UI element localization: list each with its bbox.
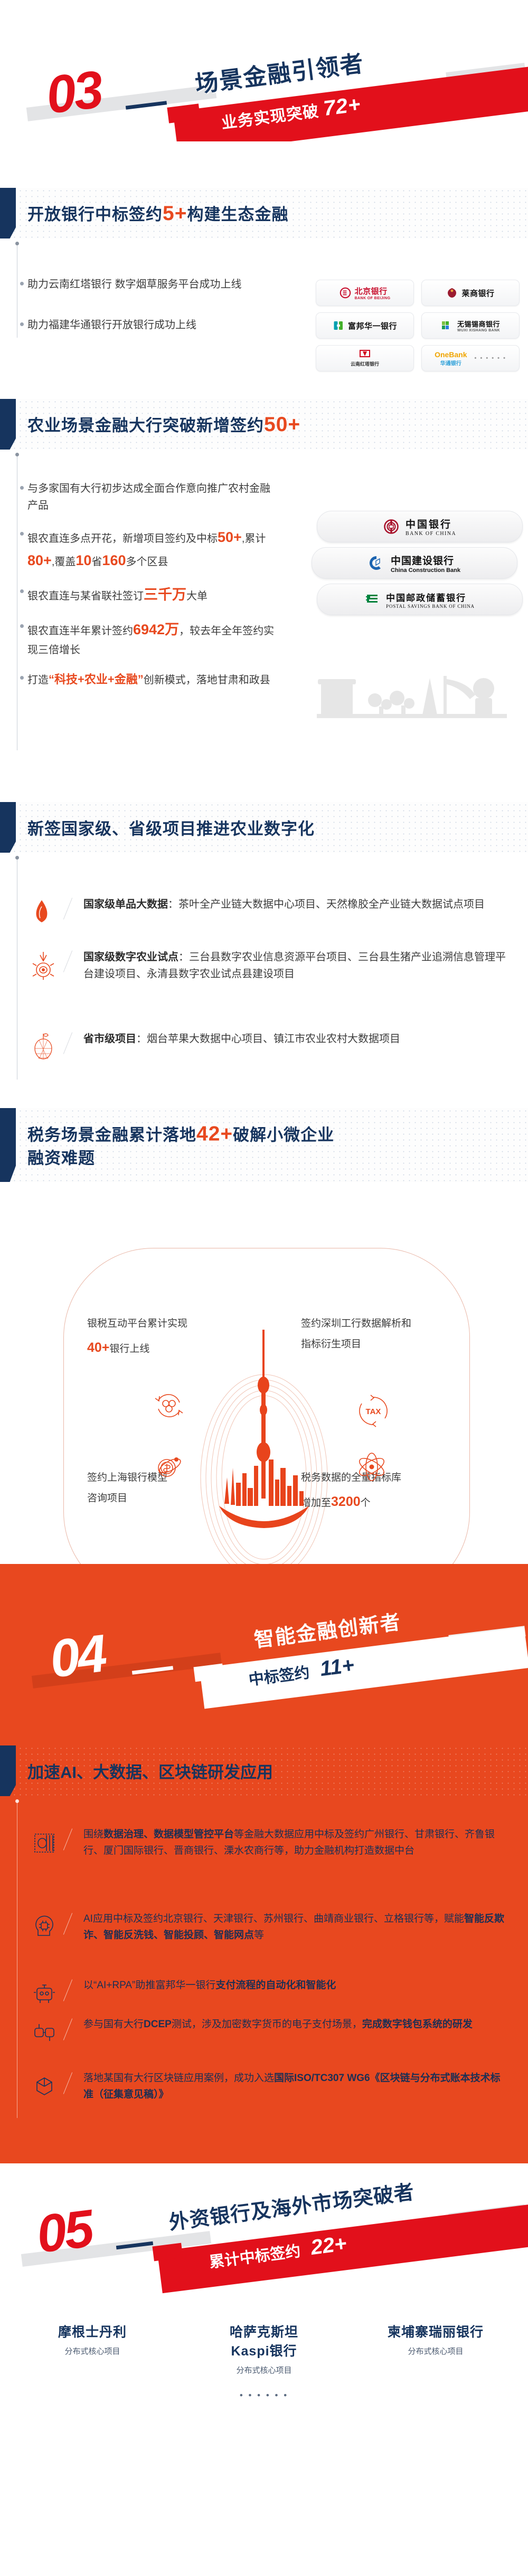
wuxi-logo-icon bbox=[441, 320, 454, 331]
section-04: 04 智能金融创新者 中标签约 11+ 加速AI、大数据、区块链研发应用 围绕数… bbox=[0, 1564, 528, 2163]
bottom-banks: 摩根士丹利 分布式核心项目 哈萨克斯坦 Kaspi银行 分布式核心项目 柬埔寨瑞… bbox=[0, 2311, 528, 2576]
item-label: 国家级单品大数据 bbox=[83, 899, 168, 910]
section-agri-title: 农业场景金融大行突破新增签约50+ bbox=[0, 399, 528, 450]
highlight-number: 80+ bbox=[27, 552, 52, 568]
tax-quadrant-top-right-text: 签约深圳工行数据解析和 指标衍生项目 bbox=[301, 1314, 475, 1355]
block-icon bbox=[31, 2072, 58, 2102]
hero04-number: 04 bbox=[46, 1623, 108, 1690]
agri-logo-list: 中国银行 BANK OF CHINA 中国建设银行 China Construc… bbox=[312, 511, 523, 615]
bullet-text: 银农直连多点开花，新增项目签约及中标50+,累计80+,覆盖10省160多个区县 bbox=[27, 526, 276, 572]
agri-bullet: 银农直连多点开花，新增项目签约及中标50+,累计80+,覆盖10省160多个区县 bbox=[27, 526, 276, 572]
text-part: 落地某国有大行区块链应用案例，成功入选 bbox=[83, 2073, 274, 2084]
text-part: 创新模式，落地甘肃和政县 bbox=[144, 674, 270, 686]
bullet-text: 与多家国有大行初步达成全面合作意向推广农村金融产品 bbox=[27, 480, 276, 514]
tax-label: TAX bbox=[366, 1407, 381, 1416]
text-part: 参与国有大行 bbox=[83, 2019, 144, 2030]
bullet-dot bbox=[20, 532, 24, 536]
section-tax-title: 税务场景金融累计落地42+破解小微企业 融资难题 bbox=[0, 1108, 528, 1182]
hero05-sub-number: 22+ bbox=[309, 2232, 348, 2259]
coin-dollar-icon bbox=[152, 1450, 186, 1484]
highlight-number: 6942万 bbox=[133, 622, 179, 637]
bank-name-en: China Construction Bank bbox=[391, 567, 460, 574]
bottom-bank-card[interactable]: 摩根士丹利 分布式核心项目 bbox=[21, 2322, 164, 2358]
section-ai-title: 加速AI、大数据、区块链研发应用 bbox=[0, 1745, 528, 1796]
section-open-bank-title: 开放银行中标签约5+构建生态金融 bbox=[0, 188, 528, 238]
national-item-2 bbox=[30, 950, 57, 983]
chain-icon bbox=[31, 2018, 58, 2048]
section-title-text: 新签国家级、省级项目推进农业数字化 bbox=[27, 816, 315, 839]
highlight-number: 三千万 bbox=[144, 587, 186, 603]
bank-name-en: BANK OF BEIJING bbox=[355, 297, 391, 300]
national-slash bbox=[63, 898, 72, 919]
bullet-dot bbox=[20, 624, 24, 628]
item-text: ：茶叶全产业链大数据中心项目、天然橡胶全产业链大数据试点项目 bbox=[168, 899, 485, 910]
bullet-text: 打造“科技+农业+金融”创新模式，落地甘肃和政县 bbox=[27, 670, 276, 689]
bank-desc: 分布式核心项目 bbox=[359, 2346, 512, 2358]
highlight-number: 10 bbox=[76, 552, 91, 568]
psbc-logo-icon bbox=[365, 592, 381, 607]
bank-name: 哈萨克斯坦 Kaspi银行 bbox=[190, 2322, 338, 2360]
ai-item-3-text: 以“AI+RPA”助推富邦华一银行支付流程的自动化和智能化 bbox=[83, 1978, 506, 1994]
ai-brain-icon bbox=[31, 1912, 58, 1943]
robot-icon bbox=[31, 1979, 58, 2009]
bullet-dot bbox=[20, 282, 24, 285]
bank-name-en: POSTAL SAVINGS BANK OF CHINA bbox=[386, 604, 475, 609]
agri-bullet: 银农直连与某省联社签订三千万大单 bbox=[27, 584, 276, 607]
ai-item-4-text: 参与国有大行DCEP测试，涉及加密数字货币的电子支付场景，完成数字钱包系统的研发 bbox=[83, 2017, 506, 2033]
bullet-text: 银农直连半年累计签约6942万，较去年全年签约实现三倍增长 bbox=[27, 618, 276, 659]
bank-name-en: OneBank bbox=[435, 350, 467, 359]
tax-cycle-icon: TAX bbox=[355, 1394, 392, 1428]
section-national-title: 新签国家级、省级项目推进农业数字化 bbox=[0, 802, 528, 853]
title-part-a: 开放银行中标签约 bbox=[27, 205, 163, 224]
bottom-bank-card[interactable]: 哈萨克斯坦 Kaspi银行 分布式核心项目 bbox=[190, 2322, 338, 2377]
ai-item-5-text: 落地某国有大行区块链应用案例，成功入选国际ISO/TC307 WG6《区块链与分… bbox=[83, 2071, 506, 2103]
text-part: 大单 bbox=[186, 590, 208, 602]
text-part: AI应用中标及签约北京银行、天津银行、苏州银行、曲靖商业银行、立格银行等，赋能 bbox=[83, 1913, 464, 1924]
hero-subtitle-number: 72+ bbox=[322, 92, 362, 120]
bottom-more-dots: • • • • • • bbox=[0, 2390, 528, 2401]
section-tab bbox=[0, 1745, 16, 1796]
tea-leaf-icon bbox=[30, 897, 54, 924]
bank-name-cn: 北京银行 bbox=[355, 285, 391, 297]
bank-name-en: BANK OF CHINA bbox=[406, 531, 456, 537]
ai-slash bbox=[63, 1913, 72, 1934]
bank-name: 摩根士丹利 bbox=[21, 2322, 164, 2341]
open-bank-vline bbox=[17, 244, 17, 338]
bullet-text: 助力福建华通银行开放银行成功上线 bbox=[27, 317, 260, 333]
bank-desc: 分布式核心项目 bbox=[21, 2346, 164, 2358]
national-item-1-text: 国家级单品大数据：茶叶全产业链大数据中心项目、天然橡胶全产业链大数据试点项目 bbox=[83, 896, 506, 913]
text-bold: 完成数字钱包系统的研发 bbox=[362, 2019, 473, 2030]
bullet-text: 助力云南红塔银行 数字烟草服务平台成功上线 bbox=[27, 276, 260, 293]
bank-logo-chip[interactable]: 中国邮政储蓄银行 POSTAL SAVINGS BANK OF CHINA bbox=[317, 584, 523, 615]
wheat-gear-icon bbox=[30, 950, 57, 980]
hero-05: 05 外资银行及海外市场突破者 累计中标签约 22+ bbox=[0, 2163, 528, 2301]
text-part: ,覆盖 bbox=[52, 556, 76, 568]
item-label: 省市级项目 bbox=[83, 1033, 136, 1045]
quadrant-line2: 银行上线 bbox=[109, 1343, 149, 1354]
text-part: 等 bbox=[254, 1930, 264, 1941]
title-part-a: 税务场景金融累计落地 bbox=[27, 1126, 196, 1144]
section-title-text: 开放银行中标签约5+构建生态金融 bbox=[27, 201, 288, 225]
quadrant-number: 3200 bbox=[331, 1494, 361, 1509]
highlight-number: 50+ bbox=[218, 529, 242, 545]
bank-name-cn: 中国邮政储蓄银行 bbox=[386, 590, 475, 604]
highlight-text: “科技+农业+金融” bbox=[49, 673, 144, 686]
title-part-b: 构建生态金融 bbox=[187, 205, 288, 224]
section-tab bbox=[0, 802, 16, 853]
bank-name: 柬埔寨瑞丽银行 bbox=[359, 2322, 512, 2341]
village-watermark-icon bbox=[317, 667, 507, 741]
ai-slash bbox=[63, 2018, 72, 2040]
text-part: 银农直连多点开花，新增项目签约及中标 bbox=[27, 533, 218, 545]
cycle-icon bbox=[152, 1389, 186, 1423]
bank-logo-chip[interactable]: 无锡锡商银行 WUXI XISHANG BANK bbox=[421, 312, 520, 339]
bob-logo-icon bbox=[340, 287, 351, 299]
bank-name-cn: 富邦华一银行 bbox=[348, 320, 397, 331]
open-bank-bullet-2: 助力福建华通银行开放银行成功上线 bbox=[27, 317, 260, 333]
ai-slash bbox=[63, 1979, 72, 2001]
bottom-bank-card[interactable]: 柬埔寨瑞丽银行 分布式核心项目 bbox=[359, 2322, 512, 2358]
bank-logo-chip[interactable]: 北京银行 BANK OF BEIJING bbox=[316, 280, 414, 306]
title-part-a: 农业场景金融大行突破新增签约 bbox=[27, 416, 264, 435]
text-part: 银农直连半年累计签约 bbox=[27, 625, 133, 637]
section-tab bbox=[0, 399, 16, 450]
bank-logo-chip[interactable]: 富邦华一银行 bbox=[316, 312, 414, 339]
bullet-dot bbox=[20, 589, 24, 593]
atom-icon bbox=[355, 1450, 389, 1484]
open-bank-logo-grid: 北京银行 BANK OF BEIJING 莱商银行 富邦华一银行 bbox=[316, 280, 522, 371]
hero-number: 03 bbox=[43, 59, 104, 126]
section-title-text: 农业场景金融大行突破新增签约50+ bbox=[27, 412, 300, 436]
apple-icon bbox=[30, 1032, 57, 1062]
text-part: 测试，涉及加密数字货币的电子支付场景， bbox=[172, 2019, 362, 2030]
bank-logo-chip[interactable]: OneBank 华通银行 • • • • • • bbox=[421, 345, 520, 371]
bank-desc: 分布式核心项目 bbox=[190, 2365, 338, 2377]
agri-bullet: 银农直连半年累计签约6942万，较去年全年签约实现三倍增长 bbox=[27, 618, 276, 659]
bank-name-cn: 云南红塔银行 bbox=[351, 360, 379, 367]
national-item-3 bbox=[30, 1032, 57, 1065]
text-part: ,累计 bbox=[242, 533, 266, 545]
ai-item-2-text: AI应用中标及签约北京银行、天津银行、苏州银行、曲靖商业银行、立格银行等，赋能智… bbox=[83, 1911, 506, 1944]
agri-bullet: 与多家国有大行初步达成全面合作意向推广农村金融产品 bbox=[27, 480, 276, 514]
national-item-2-text: 国家级数字农业试点：三台县数字农业信息资源平台项目、三台县生猪产业追溯信息管理平… bbox=[83, 949, 506, 983]
bank-name-cn: 无锡锡商银行 bbox=[457, 319, 500, 329]
text-part: 打造 bbox=[27, 674, 49, 686]
agri-bullets: 与多家国有大行初步达成全面合作意向推广农村金融产品 银农直连多点开花，新增项目签… bbox=[27, 480, 276, 689]
item-text: ：烟台苹果大数据中心项目、镇江市农业农村大数据项目 bbox=[136, 1033, 400, 1045]
quadrant-number: 40+ bbox=[87, 1340, 109, 1355]
bank-name-cn: 中国银行 bbox=[406, 517, 456, 531]
title-number: 42+ bbox=[196, 1123, 233, 1146]
open-bank-bullet-1: 助力云南红塔银行 数字烟草服务平台成功上线 bbox=[27, 276, 260, 293]
hongta-logo-icon bbox=[358, 349, 372, 360]
text-part: 省 bbox=[91, 556, 102, 568]
boc-logo-icon bbox=[383, 519, 399, 535]
text-part: 以“AI+RPA”助推富邦华一银行 bbox=[83, 1980, 215, 1991]
quadrant-line2: 指标衍生项目 bbox=[301, 1334, 475, 1355]
ai-slash bbox=[63, 1828, 72, 1850]
agri-vline bbox=[17, 455, 17, 750]
text-part: 多个区县 bbox=[126, 556, 168, 568]
hero-04: 04 智能金融创新者 中标签约 11+ bbox=[0, 1564, 528, 1717]
quadrant-line2-suffix: 个 bbox=[361, 1497, 371, 1509]
bullet-text: 银农直连与某省联社签订三千万大单 bbox=[27, 584, 276, 607]
national-slash bbox=[63, 950, 72, 972]
national-item-3-text: 省市级项目：烟台苹果大数据中心项目、镇江市农业农村大数据项目 bbox=[83, 1031, 506, 1047]
bank-logo-chip[interactable]: 中国银行 BANK OF CHINA bbox=[317, 511, 523, 542]
more-dots: • • • • • • bbox=[475, 355, 506, 361]
bank-name-en: WUXI XISHANG BANK bbox=[457, 329, 500, 332]
text-bold: 支付流程的自动化和智能化 bbox=[215, 1980, 336, 1991]
laishang-logo-icon bbox=[446, 287, 458, 299]
ccb-logo-icon bbox=[369, 555, 384, 571]
bullet-dot bbox=[20, 676, 24, 680]
bank-logo-chip[interactable]: 中国建设银行 China Construction Bank bbox=[312, 547, 517, 579]
text-bold: DCEP bbox=[144, 2019, 172, 2030]
text-part: 银农直连与某省联社签订 bbox=[27, 590, 144, 602]
section-title-text: 加速AI、大数据、区块链研发应用 bbox=[27, 1759, 273, 1783]
item-label: 国家级数字农业试点 bbox=[83, 951, 178, 963]
onebank-wordmark: OneBank bbox=[435, 350, 467, 359]
title-part-b: 破解小微企业 bbox=[233, 1126, 334, 1144]
section-tab bbox=[0, 188, 16, 238]
bank-logo-chip[interactable]: 莱商银行 bbox=[421, 280, 520, 306]
hero05-number: 05 bbox=[33, 2198, 95, 2265]
city-skyline-icon bbox=[214, 1330, 314, 1551]
section-title-text: 税务场景金融累计落地42+破解小微企业 融资难题 bbox=[27, 1121, 334, 1169]
bullet-dot bbox=[20, 486, 24, 490]
ai-item-1-text: 围绕数据治理、数据模型管控平台等金融大数据应用中标及签约广州银行、甘肃银行、齐鲁… bbox=[83, 1827, 506, 1859]
section-tab bbox=[0, 1108, 16, 1182]
national-item-1 bbox=[30, 897, 54, 927]
national-vline bbox=[17, 858, 17, 1080]
title-number: 50+ bbox=[264, 413, 300, 436]
hero04-sub-number: 11+ bbox=[318, 1654, 355, 1681]
ai-slash bbox=[63, 2072, 72, 2094]
quadrant-line1: 签约深圳工行数据解析和 bbox=[301, 1314, 475, 1334]
ai-vline bbox=[17, 1801, 17, 2118]
title-line2: 融资难题 bbox=[27, 1148, 334, 1169]
national-slash bbox=[63, 1032, 72, 1054]
bank-name-cn: 莱商银行 bbox=[461, 288, 494, 299]
bank-logo-chip[interactable]: 云南红塔银行 bbox=[316, 345, 414, 371]
bank-name-cn: 中国建设银行 bbox=[391, 553, 460, 567]
agri-bullet: 打造“科技+农业+金融”创新模式，落地甘肃和政县 bbox=[27, 670, 276, 689]
text-bold: 数据治理、数据模型管控平台 bbox=[103, 1829, 234, 1840]
database-icon bbox=[31, 1828, 58, 1858]
hero-03: 03 场景金融引领者 业务实现突破 72+ bbox=[0, 0, 528, 141]
highlight-number: 160 bbox=[102, 552, 126, 568]
fubon-logo-icon bbox=[333, 320, 344, 331]
bank-name-cn: 华通银行 bbox=[435, 359, 467, 367]
text-part: 与多家国有大行初步达成全面合作意向推广农村金融产品 bbox=[27, 483, 270, 511]
title-number: 5+ bbox=[163, 202, 187, 225]
text-part: 围绕 bbox=[83, 1829, 103, 1840]
bullet-dot bbox=[20, 322, 24, 326]
